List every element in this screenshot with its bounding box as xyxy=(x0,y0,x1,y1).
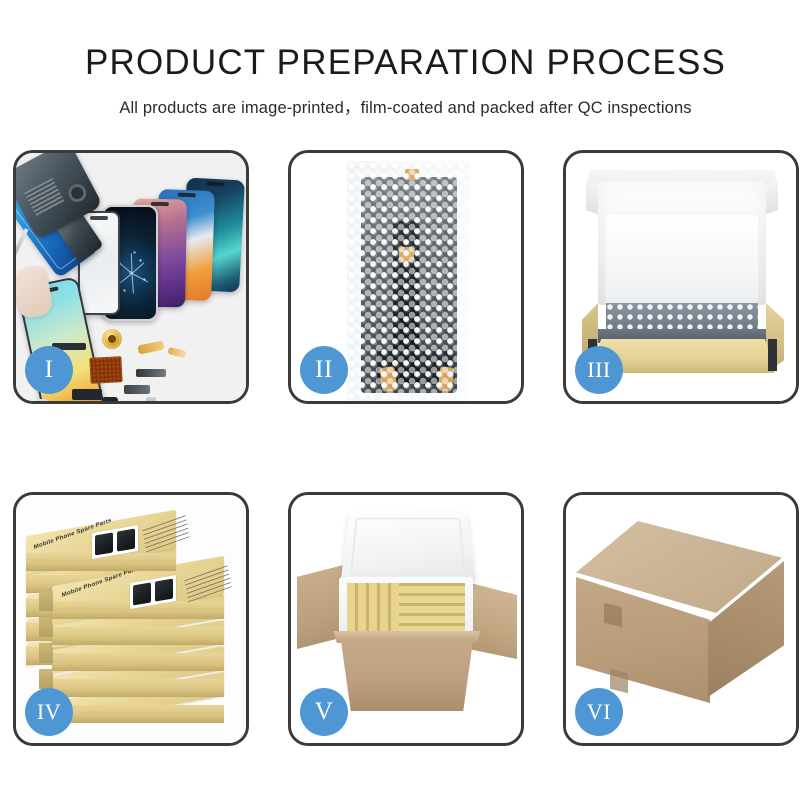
process-step-panel-3: III xyxy=(563,150,799,404)
step-badge-1: I xyxy=(25,346,73,394)
gold-box-front-1: Mobile Phone Spare Parts xyxy=(52,571,224,609)
foam-lid-icon xyxy=(340,511,475,583)
process-step-panel-5: V xyxy=(288,492,524,746)
volume-button-icon xyxy=(38,399,47,401)
product-preparation-process-page: PRODUCT PREPARATION PROCESS All products… xyxy=(0,0,811,811)
step-badge-5: V xyxy=(300,688,348,736)
process-steps-grid: I II xyxy=(13,150,798,746)
page-title: PRODUCT PREPARATION PROCESS xyxy=(0,44,811,82)
carton-tape-upper-icon xyxy=(604,603,622,627)
step-badge-6: VI xyxy=(575,688,623,736)
vibration-coil-icon xyxy=(102,329,122,349)
gold-boxes-vertical-icon xyxy=(347,583,399,633)
foam-box-interior-icon xyxy=(347,583,465,633)
gold-box-top: Mobile Phone Spare Parts xyxy=(26,523,176,561)
carton-tape-lower-icon xyxy=(610,669,628,693)
process-step-panel-1: I xyxy=(13,150,249,404)
bubble-film-highlight-icon xyxy=(347,161,469,401)
connector-ribbon-icon xyxy=(124,385,150,394)
logic-board-strip-icon xyxy=(72,389,102,400)
bubble-bag-icon xyxy=(347,161,469,401)
step-badge-4: IV xyxy=(25,688,73,736)
step-badge-2: II xyxy=(300,346,348,394)
process-step-panel-4: Mobile Phone Spare Parts Mobile Phone Sp… xyxy=(13,492,249,746)
step-badge-3: III xyxy=(575,346,623,394)
process-step-panel-6: VI xyxy=(563,492,799,746)
antenna-cable-icon xyxy=(136,369,166,377)
battery-connector-icon xyxy=(146,397,156,401)
carton-front-icon xyxy=(333,637,481,711)
page-header: PRODUCT PREPARATION PROCESS All products… xyxy=(0,0,811,118)
gold-boxes-horizontal-icon xyxy=(399,583,465,633)
speaker-module-icon xyxy=(102,397,118,401)
chip-grid-icon xyxy=(89,356,122,384)
process-step-panel-2: II xyxy=(288,150,524,404)
page-subtitle: All products are image-printed，film-coat… xyxy=(0,94,811,118)
foam-sheet-icon xyxy=(606,215,758,303)
tray-corner-right-icon xyxy=(768,339,777,371)
